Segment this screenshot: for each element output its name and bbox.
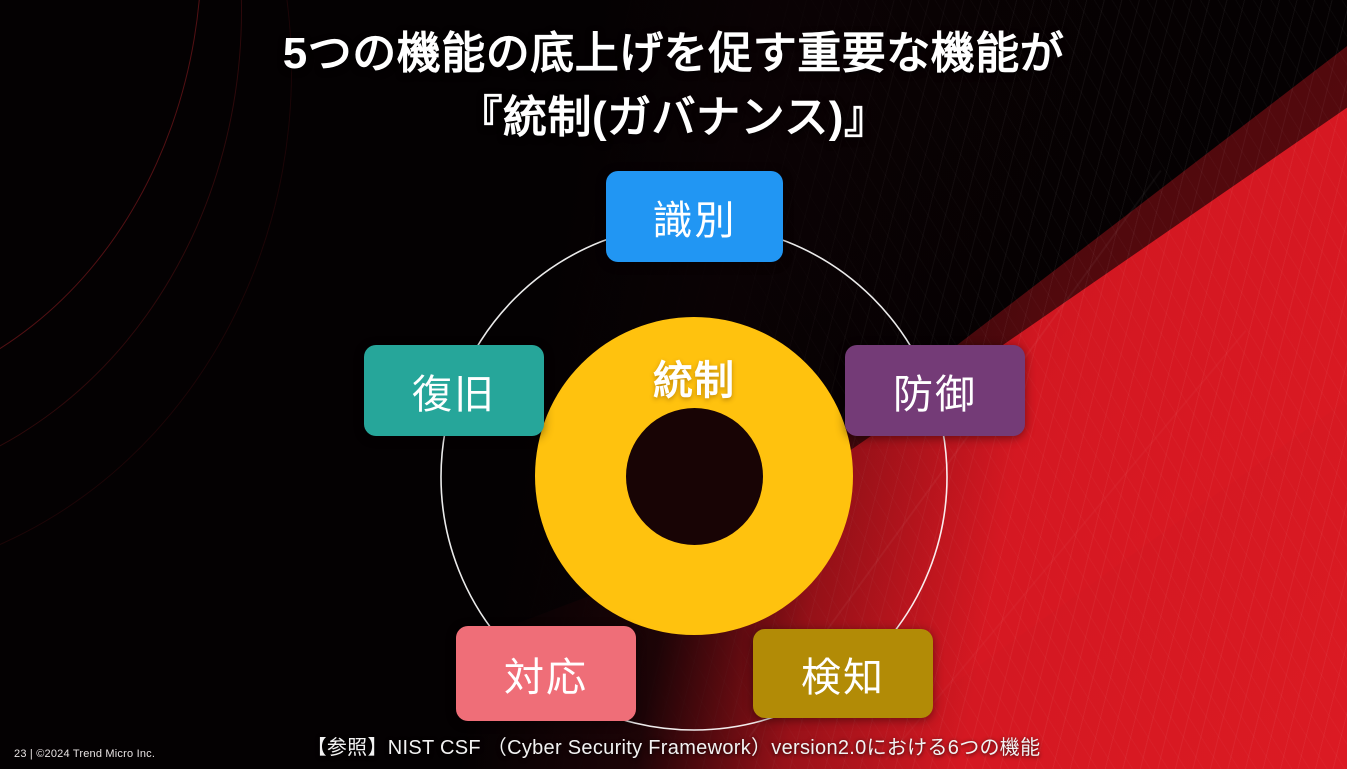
function-node-protect[interactable]: 防御 [845, 345, 1025, 436]
function-node-detect[interactable]: 検知 [753, 629, 933, 718]
governance-donut-hole [626, 408, 763, 545]
source-caption: 【参照】NIST CSF （Cyber Security Framework）v… [0, 731, 1347, 760]
slide-canvas: 5つの機能の底上げを促す重要な機能が 『統制(ガバナンス)』 統制 識別 防御 … [0, 0, 1347, 769]
slide-title-line-1: 5つの機能の底上げを促す重要な機能が [0, 22, 1347, 86]
function-node-identify-label: 識別 [653, 188, 737, 246]
slide-title-line-2: 『統制(ガバナンス)』 [0, 86, 1347, 150]
function-node-protect-label: 防御 [893, 362, 977, 420]
footer-copyright: 23 | ©2024 Trend Micro Inc. [14, 748, 155, 760]
slide-title: 5つの機能の底上げを促す重要な機能が 『統制(ガバナンス)』 [0, 22, 1347, 150]
governance-label: 統制 [535, 348, 853, 406]
function-node-recover-label: 復旧 [412, 362, 496, 420]
function-node-respond[interactable]: 対応 [456, 626, 636, 721]
governance-donut: 統制 [535, 317, 853, 635]
function-node-detect-label: 検知 [801, 645, 885, 703]
function-node-identify[interactable]: 識別 [606, 171, 783, 262]
function-node-respond-label: 対応 [504, 645, 588, 703]
function-node-recover[interactable]: 復旧 [364, 345, 544, 436]
